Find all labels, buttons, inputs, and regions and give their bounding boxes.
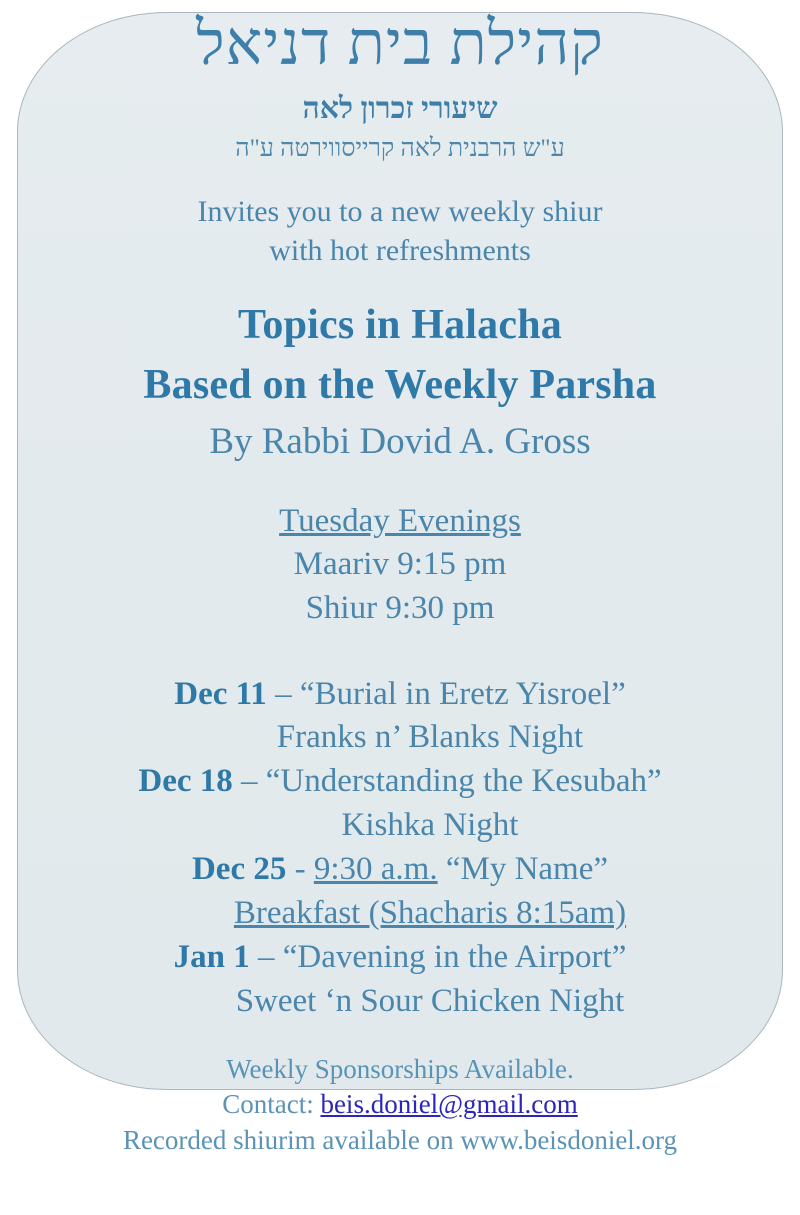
- session-date: Dec 18: [138, 763, 232, 799]
- weekly-day-heading: Tuesday Evenings: [0, 500, 800, 544]
- recorded-shiurim-line: Recorded shiurim available on www.beisdo…: [0, 1123, 800, 1159]
- session-note-text: Breakfast (Shacharis 8:15am): [234, 895, 626, 931]
- schedule-times-block: Tuesday Evenings Maariv 9:15 pm Shiur 9:…: [0, 464, 800, 631]
- session-dash: -: [286, 851, 314, 887]
- session-topic: “My Name”: [446, 851, 608, 887]
- maariv-time: Maariv 9:15 pm: [0, 543, 800, 587]
- session-note: Sweet ‘n Sour Chicken Night: [0, 980, 800, 1024]
- session-note: Breakfast (Shacharis 8:15am): [0, 892, 800, 936]
- session-headline-row: Dec 11 – “Burial in Eretz Yisroel”: [0, 673, 800, 717]
- session-dash: –: [233, 763, 266, 799]
- sponsorship-line: Weekly Sponsorships Available.: [0, 1052, 800, 1088]
- session-entry: Dec 25 - 9:30 a.m. “My Name”Breakfast (S…: [0, 848, 800, 936]
- session-time: 9:30 a.m.: [314, 851, 438, 887]
- session-note: Kishka Night: [0, 804, 800, 848]
- session-note: Franks n’ Blanks Night: [0, 716, 800, 760]
- session-date: Dec 25: [192, 851, 286, 887]
- footer-block: Weekly Sponsorships Available. Contact: …: [0, 1024, 800, 1160]
- session-topic: “Burial in Eretz Yisroel”: [300, 676, 626, 712]
- contact-label: Contact:: [222, 1089, 320, 1119]
- session-note-text: Kishka Night: [342, 807, 519, 843]
- session-dash: –: [267, 676, 300, 712]
- event-title-line-1: Topics in Halacha: [0, 296, 800, 356]
- flyer-content: קהילת בית דניאל שיעורי זכרון לאה ע"ש הרב…: [0, 0, 800, 1215]
- hebrew-series-subtitle: שיעורי זכרון לאה: [0, 76, 800, 127]
- contact-email-link[interactable]: beis.doniel@gmail.com: [320, 1089, 577, 1119]
- event-title-line-2: Based on the Weekly Parsha: [0, 356, 800, 416]
- session-headline-row: Jan 1 – “Davening in the Airport”: [0, 936, 800, 980]
- session-date: Jan 1: [174, 939, 250, 975]
- shiur-time: Shiur 9:30 pm: [0, 587, 800, 631]
- session-date: Dec 11: [174, 676, 267, 712]
- session-topic: “Understanding the Kesubah”: [266, 763, 662, 799]
- session-dash: –: [250, 939, 283, 975]
- session-entry: Dec 11 – “Burial in Eretz Yisroel”Franks…: [0, 673, 800, 761]
- session-headline-row: Dec 25 - 9:30 a.m. “My Name”: [0, 848, 800, 892]
- invitation-block: Invites you to a new weekly shiur with h…: [0, 163, 800, 270]
- invitation-line-1: Invites you to a new weekly shiur: [0, 193, 800, 231]
- speaker-byline: By Rabbi Dovid A. Gross: [0, 416, 800, 464]
- weekly-day-heading-text: Tuesday Evenings: [279, 503, 521, 539]
- session-entry: Dec 18 – “Understanding the Kesubah”Kish…: [0, 760, 800, 848]
- contact-line: Contact: beis.doniel@gmail.com: [0, 1087, 800, 1123]
- session-entry: Jan 1 – “Davening in the Airport”Sweet ‘…: [0, 936, 800, 1024]
- session-note-text: Franks n’ Blanks Night: [277, 719, 583, 755]
- session-topic: “Davening in the Airport”: [283, 939, 627, 975]
- event-title-block: Topics in Halacha Based on the Weekly Pa…: [0, 270, 800, 415]
- hebrew-dedication-line: ע"ש הרבנית לאה קרייסווירטה ע"ה: [0, 127, 800, 164]
- invitation-line-2: with hot refreshments: [0, 232, 800, 270]
- hebrew-organization-title: קהילת בית דניאל: [0, 0, 800, 76]
- session-note-text: Sweet ‘n Sour Chicken Night: [236, 983, 625, 1019]
- session-headline-row: Dec 18 – “Understanding the Kesubah”: [0, 760, 800, 804]
- session-list: Dec 11 – “Burial in Eretz Yisroel”Franks…: [0, 631, 800, 1024]
